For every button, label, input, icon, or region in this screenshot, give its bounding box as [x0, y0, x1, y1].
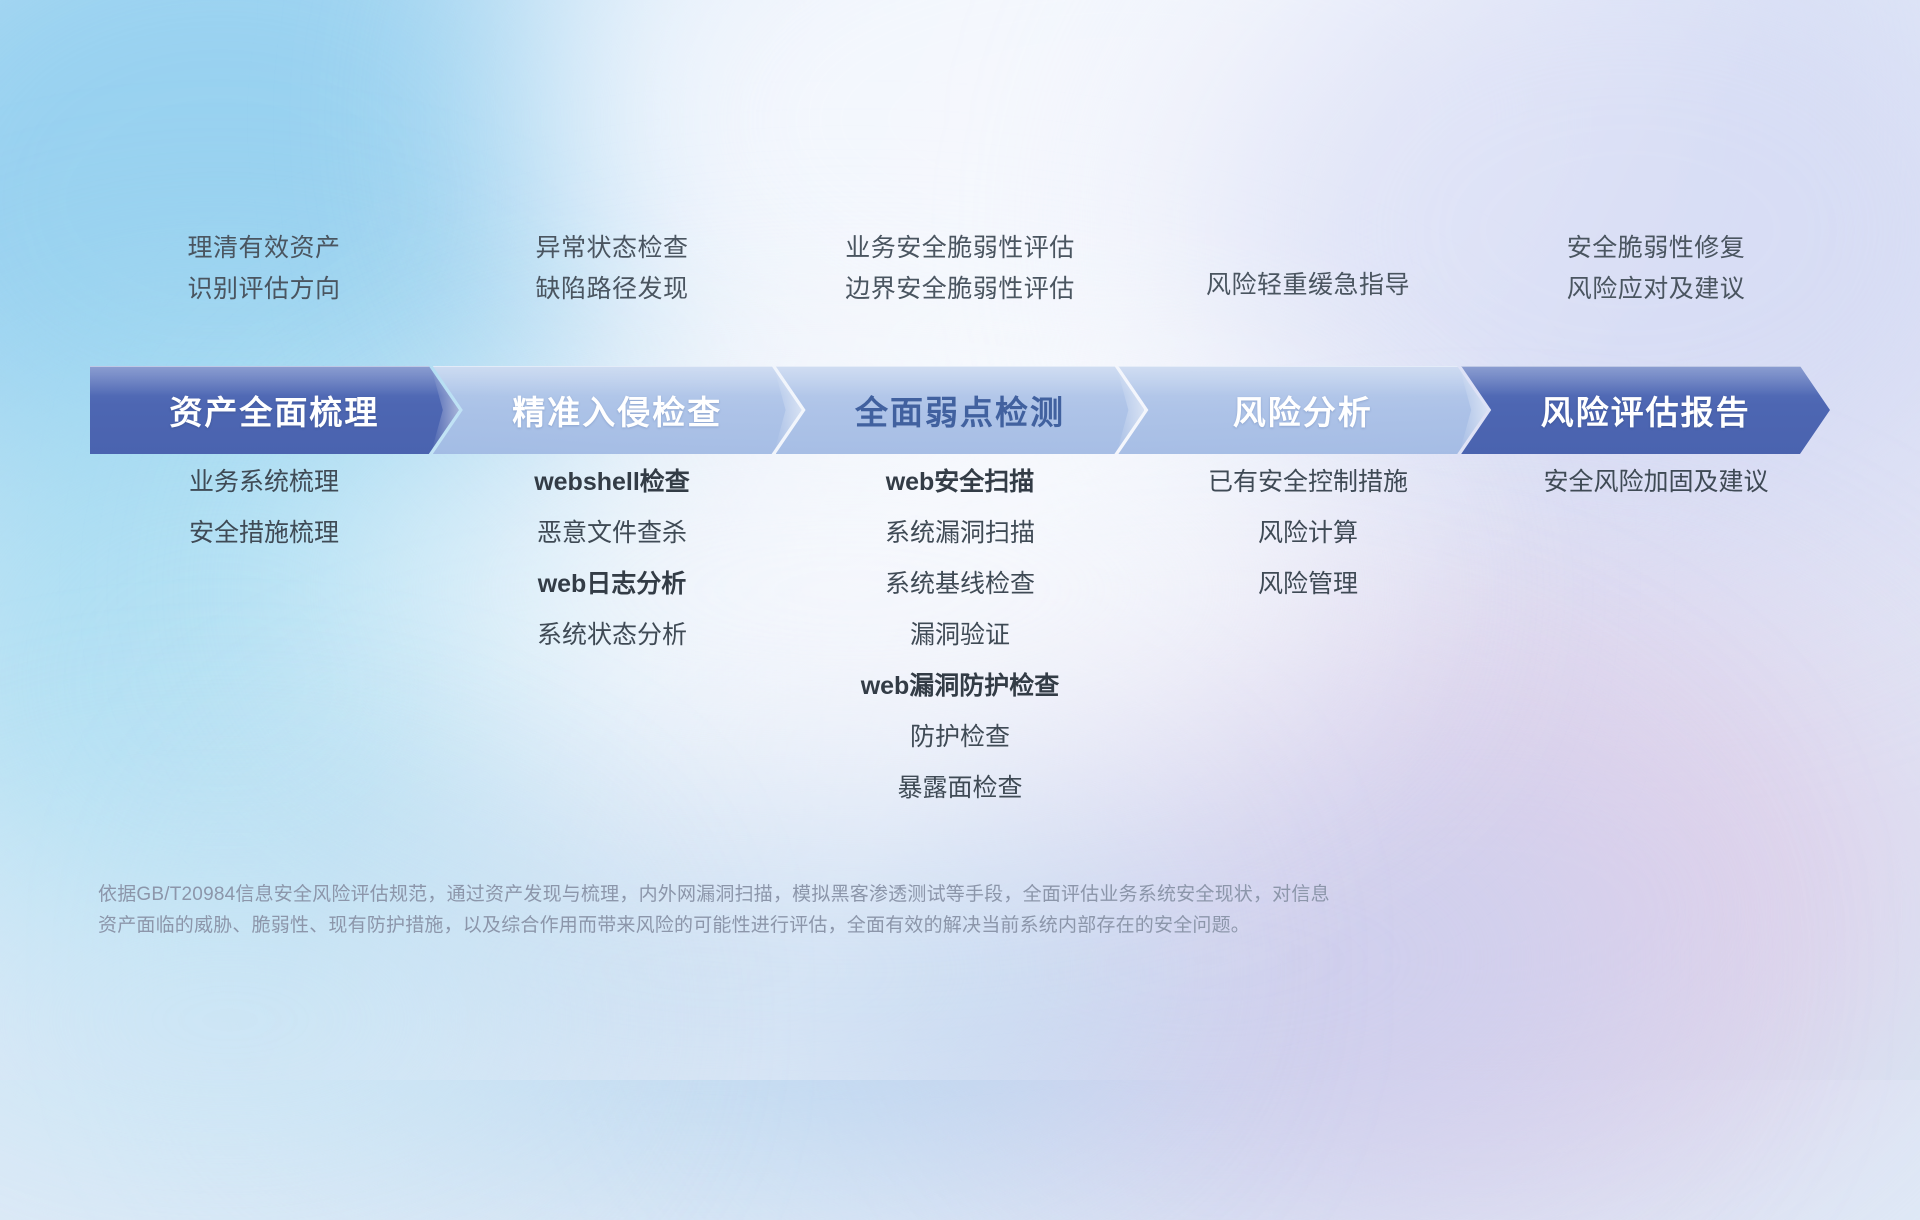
top-caption-item: 理清有效资产 [187, 236, 340, 261]
bottom-lists-row: 业务系统梳理 安全措施梳理 webshell检查 恶意文件查杀 web日志分析 … [90, 470, 1830, 827]
list-item: 安全风险加固及建议 [1543, 470, 1768, 495]
top-captions-assessment-report: 安全脆弱性修复 风险应对及建议 [1482, 236, 1830, 302]
footer-line: 资产面临的威胁、脆弱性、现有防护措施，以及综合作用而带来风险的可能性进行评估，全… [98, 911, 1658, 942]
bottom-list-assessment-report: 安全风险加固及建议 [1482, 470, 1830, 827]
chevron-step-assessment-report[interactable]: 风险评估报告 [1461, 366, 1830, 454]
chevron-step-intrusion-check[interactable]: 精准入侵检查 [433, 366, 802, 454]
top-captions-asset-inventory: 理清有效资产 识别评估方向 [90, 236, 438, 302]
top-captions-risk-analysis: 风险轻重缓急指导 [1134, 236, 1482, 302]
chevron-step-label: 风险分析 [1233, 386, 1373, 434]
list-item: 系统状态分析 [537, 623, 687, 648]
list-item: 风险管理 [1258, 572, 1358, 597]
top-captions-intrusion-check: 异常状态检查 缺陷路径发现 [438, 236, 786, 302]
chevron-step-label: 风险评估报告 [1541, 386, 1751, 434]
top-caption-item: 缺陷路径发现 [535, 277, 688, 302]
chevron-step-label: 精准入侵检查 [512, 386, 722, 434]
chevron-step-label: 全面弱点检测 [855, 386, 1065, 434]
top-caption-item: 业务安全脆弱性评估 [845, 236, 1075, 261]
chevron-step-label: 资产全面梳理 [169, 386, 379, 434]
list-item: web安全扫描 [886, 470, 1035, 495]
top-captions-weakness-detection: 业务安全脆弱性评估 边界安全脆弱性评估 [786, 236, 1134, 302]
chevron-step-asset-inventory[interactable]: 资产全面梳理 [90, 366, 459, 454]
list-item: 业务系统梳理 [189, 470, 339, 495]
list-item: 风险计算 [1258, 521, 1358, 546]
list-item: 系统基线检查 [885, 572, 1035, 597]
list-item: 恶意文件查杀 [537, 521, 687, 546]
top-caption-item: 边界安全脆弱性评估 [845, 277, 1075, 302]
top-caption-item: 识别评估方向 [187, 277, 340, 302]
bottom-list-asset-inventory: 业务系统梳理 安全措施梳理 [90, 470, 438, 827]
top-caption-item: 异常状态检查 [535, 236, 688, 261]
top-caption-item: 风险轻重缓急指导 [1206, 273, 1410, 298]
bottom-list-intrusion-check: webshell检查 恶意文件查杀 web日志分析 系统状态分析 [438, 470, 786, 827]
list-item: 已有安全控制措施 [1208, 470, 1408, 495]
list-item: web漏洞防护检查 [861, 674, 1060, 699]
list-item: 安全措施梳理 [189, 521, 339, 546]
footer-description: 依据GB/T20984信息安全风险评估规范，通过资产发现与梳理，内外网漏洞扫描，… [98, 880, 1658, 942]
process-chevron-banner: 资产全面梳理 精准入侵检查 全面弱点检测 风险分析 风 [90, 366, 1830, 454]
list-item: 防护检查 [910, 725, 1010, 750]
list-item: 系统漏洞扫描 [885, 521, 1035, 546]
chevron-step-risk-analysis[interactable]: 风险分析 [1118, 366, 1487, 454]
list-item: web日志分析 [538, 572, 687, 597]
chevron-step-weakness-detection[interactable]: 全面弱点检测 [776, 366, 1145, 454]
bottom-list-risk-analysis: 已有安全控制措施 风险计算 风险管理 [1134, 470, 1482, 827]
list-item: 漏洞验证 [910, 623, 1010, 648]
bottom-list-weakness-detection: web安全扫描 系统漏洞扫描 系统基线检查 漏洞验证 web漏洞防护检查 防护检… [786, 470, 1134, 827]
top-caption-item: 风险应对及建议 [1567, 277, 1746, 302]
top-caption-item: 安全脆弱性修复 [1567, 236, 1746, 261]
process-diagram: 理清有效资产 识别评估方向 异常状态检查 缺陷路径发现 业务安全脆弱性评估 边界… [0, 0, 1920, 1080]
list-item: webshell检查 [534, 470, 690, 495]
top-captions-row: 理清有效资产 识别评估方向 异常状态检查 缺陷路径发现 业务安全脆弱性评估 边界… [90, 236, 1830, 302]
footer-line: 依据GB/T20984信息安全风险评估规范，通过资产发现与梳理，内外网漏洞扫描，… [98, 880, 1658, 911]
list-item: 暴露面检查 [897, 776, 1022, 801]
